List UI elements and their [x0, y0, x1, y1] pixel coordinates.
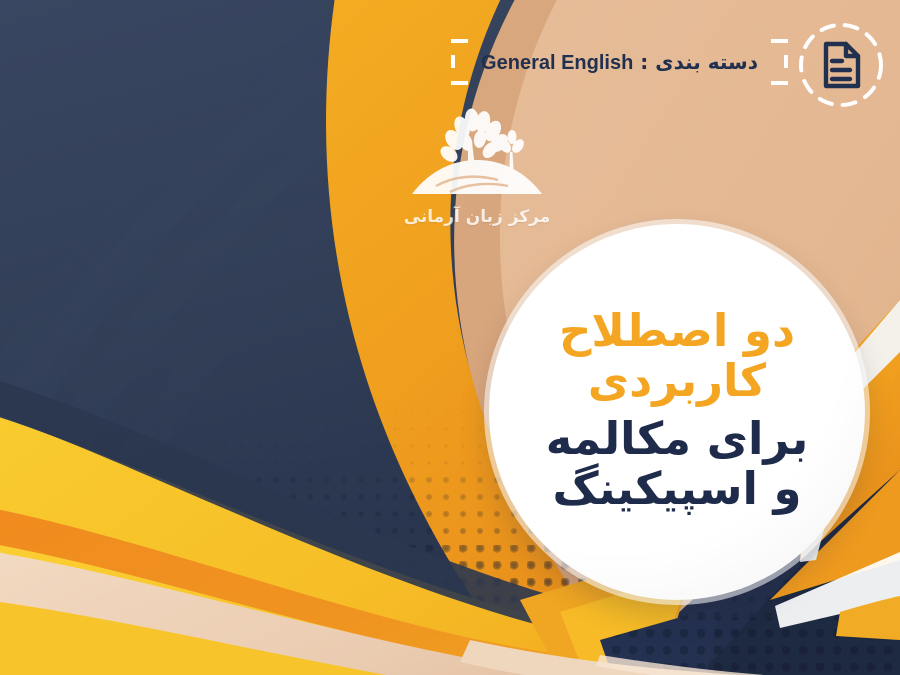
poster-canvas: دسته بندی : General English: [0, 0, 900, 675]
document-badge: [790, 14, 892, 116]
dashed-ring: [801, 25, 881, 105]
corner-bracket-left-icon: [451, 39, 468, 85]
category-value: General English: [481, 52, 633, 74]
document-icon: [826, 44, 858, 86]
title-line-3: برای مکالمه: [546, 413, 809, 465]
title-circle: دو اصطلاح کاربردی برای مکالمه و اسپیکینگ: [489, 224, 865, 600]
corner-bracket-right-icon: [771, 39, 788, 85]
title-line-1: دو اصطلاح: [559, 305, 795, 357]
title-line-4: و اسپیکینگ: [552, 463, 801, 515]
tree-logo-icon: [392, 106, 562, 202]
category-text: دسته بندی : General English: [468, 52, 771, 73]
category-label: دسته بندی :: [640, 50, 758, 74]
brand-name: مرکز زبان آرمانی: [392, 208, 562, 227]
brand-logo: مرکز زبان آرمانی: [392, 106, 562, 227]
title-line-2: کاربردی: [588, 355, 766, 407]
category-bar: دسته بندی : General English: [451, 34, 788, 90]
